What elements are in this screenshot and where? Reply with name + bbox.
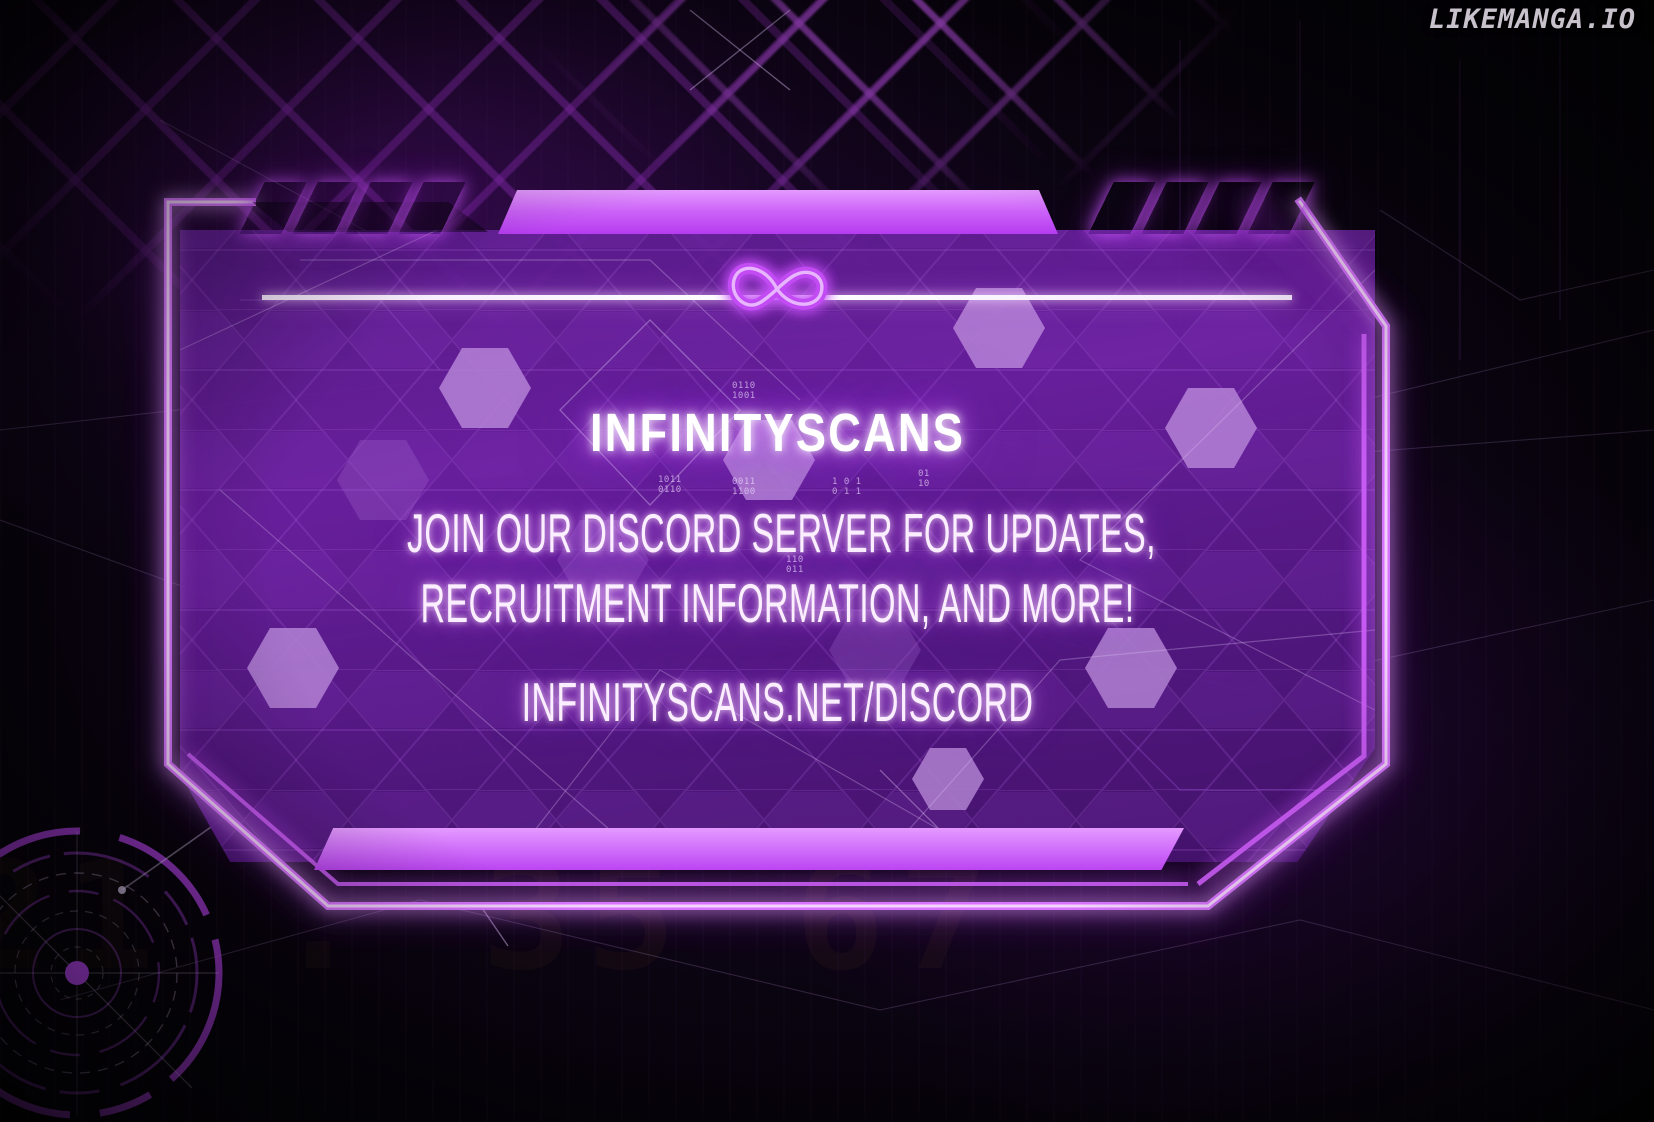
header-divider-row xyxy=(262,292,1292,302)
tagline-line-2: RECRUITMENT INFORMATION, AND MORE! xyxy=(407,568,1148,638)
infinity-icon xyxy=(711,243,843,339)
tech-glyph-decoration: 01 10 xyxy=(918,470,930,490)
page-title: INFINITYSCANS xyxy=(276,402,1280,464)
discord-url[interactable]: INFINITYSCANS.NET/DISCORD xyxy=(407,670,1148,734)
site-watermark: LIKEMANGA.IO xyxy=(1429,4,1636,35)
tech-glyph-decoration: 0011 1100 xyxy=(732,478,756,498)
slanted-stripe-group-right xyxy=(1101,182,1302,234)
poster-canvas: 21 . 35 67 xyxy=(0,0,1654,1122)
tagline-line-1: JOIN OUR DISCORD SERVER FOR UPDATES, xyxy=(407,498,1148,568)
tech-glyph-decoration: 1 0 1 0 1 1 xyxy=(832,478,862,498)
announcement-panel: 0110 1001 1011 0110 0011 1100 1 0 1 0 1 … xyxy=(148,168,1406,908)
panel-top-bar xyxy=(498,190,1058,234)
slanted-stripe-group-left xyxy=(252,182,453,234)
tagline: JOIN OUR DISCORD SERVER FOR UPDATES, REC… xyxy=(407,498,1148,639)
tech-glyph-decoration: 1011 0110 xyxy=(658,476,682,496)
tech-glyph-decoration: 0110 1001 xyxy=(732,382,756,402)
panel-content: 0110 1001 1011 0110 0011 1100 1 0 1 0 1 … xyxy=(180,230,1375,862)
